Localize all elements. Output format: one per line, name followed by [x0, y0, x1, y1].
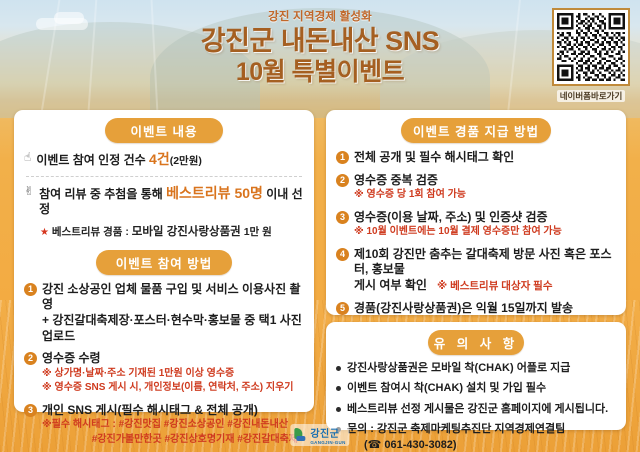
- qr-label: 네이버폼바로가기: [557, 90, 626, 102]
- victory-hand-icon: ✌: [24, 184, 34, 199]
- qr-block[interactable]: 네이버폼바로가기: [549, 8, 633, 104]
- step-number: 2: [24, 352, 37, 365]
- step-number: 1: [336, 151, 349, 164]
- event-content-item-2-text: 참여 리뷰 중 추첨을 통해 베스트리뷰 50명 이내 선정: [39, 184, 304, 218]
- notice-item-4: 문의 : 강진군 축제마케팅추진단 지역경제연결팀: [347, 422, 565, 436]
- item-2-highlight: 베스트리뷰 50명: [166, 185, 263, 201]
- bullet-dot-icon: [336, 407, 341, 412]
- qr-code-icon: [557, 13, 625, 81]
- event-content-pill: 이벤트 내용: [105, 118, 223, 143]
- divider: [26, 176, 302, 177]
- join-step-1-line1: 강진 소상공인 업체 물품 구입 및 서비스 이용사진 촬영: [42, 282, 301, 312]
- notice-item: 이벤트 참여시 착(CHAK) 설치 및 가입 필수: [336, 381, 616, 395]
- join-step-3-line1: 개인 SNS 게시(필수 해시태그 & 전체 공개): [42, 403, 258, 419]
- bullet-dot-icon: [336, 386, 341, 391]
- prize-step-3-line1: 영수증(이용 날짜, 주소) 및 인증샷 검증: [354, 210, 548, 226]
- notice-telephone: (☎ 061-430-3082): [336, 438, 616, 451]
- sub-value: 모바일 강진사랑상품권: [132, 226, 241, 238]
- join-step-3: 3 개인 SNS 게시(필수 해시태그 & 전체 공개): [24, 403, 304, 419]
- how-to-join-pill: 이벤트 참여 방법: [96, 250, 232, 275]
- prize-step-2: 2 영수증 중복 검증: [336, 173, 616, 189]
- prize-step-1-line1: 전체 공개 및 필수 해시태그 확인: [354, 150, 514, 166]
- step-number: 3: [336, 211, 349, 224]
- step-number: 2: [336, 174, 349, 187]
- join-step-3-note-2: #강진가볼만한곳 #강진상호명기재 #강진갈대축제: [24, 433, 304, 448]
- prize-step-4-inline-note: ※ 베스트리뷰 대상자 필수: [437, 280, 553, 292]
- prize-step-4-line1: 제10회 강진만 춤추는 갈대축제 방문 사진 혹은 포스터, 홍보물: [354, 247, 612, 277]
- step-number: 3: [24, 404, 37, 417]
- notice-item: 강진사랑상품권은 모바일 착(CHAK) 어플로 지급: [336, 361, 616, 375]
- bullet-dot-icon: [336, 366, 341, 371]
- join-step-3-note-1: ※필수 해시태그 : #강진맛집 #강진소상공인 #강진내돈내산: [24, 418, 304, 433]
- logo-mark-icon: [294, 428, 307, 441]
- prize-step-5-line1: 경품(강진사랑상품권)은 익월 15일까지 발송: [354, 301, 573, 317]
- notice-item-3: 베스트리뷰 선정 게시물은 강진군 홈페이지에 게시됩니다.: [347, 402, 608, 416]
- qr-frame: [552, 8, 630, 86]
- item-1-prefix: 이벤트 참여 인정 건수: [36, 153, 145, 167]
- prize-step-4: 4 제10회 강진만 춤추는 갈대축제 방문 사진 혹은 포스터, 홍보물 게시…: [336, 247, 616, 294]
- join-step-2-note-1: ※ 상가명·날짜·주소 기재된 1만원 이상 영수증: [24, 367, 304, 382]
- prize-step-2-line1: 영수증 중복 검증: [354, 173, 438, 189]
- poster-header: 강진 지역경제 활성화 강진군 내돈내산 SNS 10월 특별이벤트: [0, 8, 640, 86]
- item-2-prefix: 참여 리뷰 중 추첨을 통해: [39, 187, 163, 201]
- notice-item-2: 이벤트 참여시 착(CHAK) 설치 및 가입 필수: [347, 381, 546, 395]
- notice-item: 문의 : 강진군 축제마케팅추진단 지역경제연결팀: [336, 422, 616, 436]
- prize-step-5: 5 경품(강진사랑상품권)은 익월 15일까지 발송: [336, 301, 616, 317]
- step-number: 4: [336, 248, 349, 261]
- item-1-suffix: (2만원): [170, 155, 202, 167]
- sub-tail: 1만 원: [244, 226, 272, 238]
- header-supertitle: 강진 지역경제 활성화: [0, 8, 640, 24]
- left-content-card: 이벤트 내용 ☝ 이벤트 참여 인정 건수 4건(2만원) ✌ 참여 리뷰 중 …: [14, 110, 314, 412]
- prize-step-2-note: ※ 영수증 당 1회 참여 가능: [336, 188, 616, 203]
- event-content-item-1: ☝ 이벤트 참여 인정 건수 4건(2만원): [24, 150, 304, 169]
- prize-step-3-note: ※ 10월 이벤트에는 10월 결제 영수증만 참여 가능: [336, 225, 616, 240]
- join-step-2-note-2: ※ 영수증 SNS 게시 시, 개인정보(이름, 연락처, 주소) 지우기: [24, 381, 304, 396]
- prize-method-pill: 이벤트 경품 지급 방법: [401, 118, 551, 143]
- logo-english-text: GANGJIN-GUN: [310, 441, 345, 446]
- prize-step-4-line2: 게시 여부 확인: [354, 278, 427, 292]
- event-content-item-2: ✌ 참여 리뷰 중 추첨을 통해 베스트리뷰 50명 이내 선정: [24, 184, 304, 218]
- logo-korean-text: 강진군: [310, 429, 339, 440]
- join-step-2: 2 영수증 수령: [24, 351, 304, 367]
- join-step-1-line2: + 강진갈대축제장·포스터·현수막·홍보물 중 택1 사진 업로드: [42, 313, 302, 343]
- poster-root: 강진 지역경제 활성화 강진군 내돈내산 SNS 10월 특별이벤트: [0, 0, 640, 452]
- step-number: 5: [336, 302, 349, 315]
- event-content-item-1-text: 이벤트 참여 인정 건수 4건(2만원): [36, 150, 202, 169]
- prize-step-1: 1 전체 공개 및 필수 해시태그 확인: [336, 150, 616, 166]
- join-step-2-line1: 영수증 수령: [42, 351, 101, 367]
- notice-pill: 유 의 사 항: [428, 330, 524, 355]
- item-1-highlight: 4건: [149, 151, 170, 167]
- star-icon: ★: [40, 227, 49, 238]
- header-title-line2: 10월 특별이벤트: [0, 58, 640, 87]
- gangjin-county-logo: 강진군 GANGJIN-GUN: [290, 424, 349, 447]
- notice-card: 유 의 사 항 강진사랑상품권은 모바일 착(CHAK) 어플로 지급 이벤트 …: [326, 322, 626, 430]
- prize-step-3: 3 영수증(이용 날짜, 주소) 및 인증샷 검증: [336, 210, 616, 226]
- event-content-item-2-sub: ★ 베스트리뷰 경품 : 모바일 강진사랑상품권 1만 원: [24, 223, 304, 239]
- notice-item: 베스트리뷰 선정 게시물은 강진군 홈페이지에 게시됩니다.: [336, 402, 616, 416]
- join-step-1: 1 강진 소상공인 업체 물품 구입 및 서비스 이용사진 촬영 + 강진갈대축…: [24, 282, 304, 344]
- prize-method-card: 이벤트 경품 지급 방법 1 전체 공개 및 필수 해시태그 확인 2 영수증 …: [326, 110, 626, 315]
- notice-item-1: 강진사랑상품권은 모바일 착(CHAK) 어플로 지급: [347, 361, 570, 375]
- header-title-line1: 강진군 내돈내산 SNS: [0, 27, 640, 57]
- sub-label: 베스트리뷰 경품 :: [52, 226, 129, 238]
- step-number: 1: [24, 283, 37, 296]
- pointing-hand-icon: ☝: [24, 150, 31, 165]
